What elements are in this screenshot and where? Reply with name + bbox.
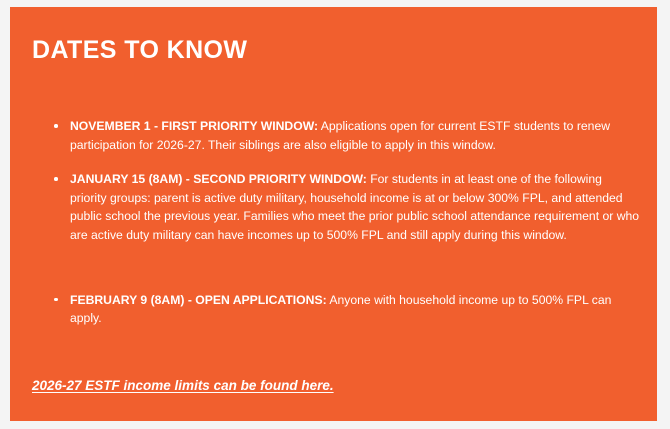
bullet-dot-icon <box>54 298 58 302</box>
list-item-lead: JANUARY 15 (8AM) - SECOND PRIORITY WINDO… <box>70 172 367 186</box>
income-limits-link[interactable]: 2026-27 ESTF income limits can be found … <box>32 377 334 395</box>
dates-bullet-list: NOVEMBER 1 - FIRST PRIORITY WINDOW: Appl… <box>32 117 640 328</box>
bullet-dot-icon <box>54 124 58 128</box>
list-item-lead: NOVEMBER 1 - FIRST PRIORITY WINDOW: <box>70 119 318 133</box>
list-item: FEBRUARY 9 (8AM) - OPEN APPLICATIONS: An… <box>32 291 640 328</box>
bullet-dot-icon <box>54 177 58 181</box>
page-title: DATES TO KNOW <box>32 35 247 65</box>
list-item-lead: FEBRUARY 9 (8AM) - OPEN APPLICATIONS: <box>70 293 327 307</box>
list-item: JANUARY 15 (8AM) - SECOND PRIORITY WINDO… <box>32 170 640 244</box>
list-item: NOVEMBER 1 - FIRST PRIORITY WINDOW: Appl… <box>32 117 640 154</box>
dates-to-know-panel: DATES TO KNOW NOVEMBER 1 - FIRST PRIORIT… <box>10 7 657 421</box>
